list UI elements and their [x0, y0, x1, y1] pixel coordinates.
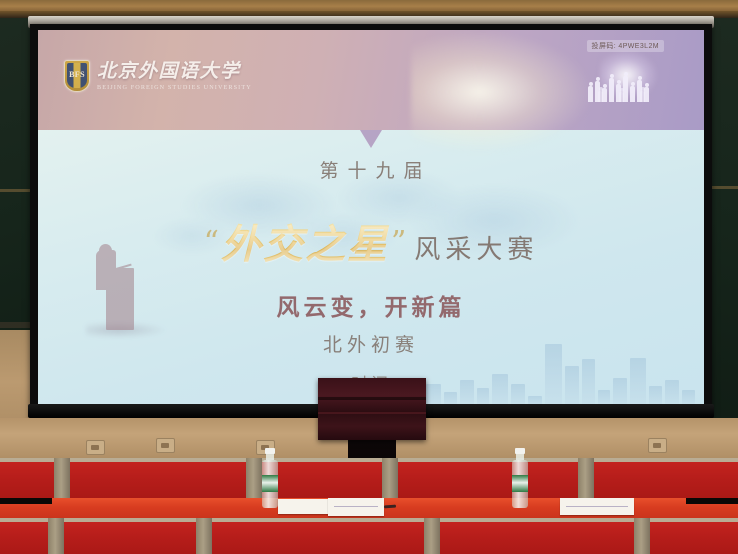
header-notch	[360, 130, 382, 148]
slide-title-suffix: 风采大赛	[414, 235, 538, 265]
lecture-hall-scene: BFS 北京外国语大学 BEIJING FOREIGN STUDIES UNIV…	[0, 0, 738, 554]
screencast-code: 投屏码: 4PWE3L2M	[587, 40, 664, 52]
slide-title-gold: 外交之星	[219, 222, 391, 268]
bfs-crest-icon: BFS	[64, 60, 90, 92]
light-glow	[411, 32, 591, 152]
slide-ordinal: 第十九届	[38, 156, 704, 183]
university-logo: BFS 北京外国语大学 BEIJING FOREIGN STUDIES UNIV…	[64, 60, 252, 92]
wall-power-outlet[interactable]	[86, 440, 105, 455]
slide-main-title: “外交之星”风采大赛	[38, 212, 704, 270]
document-sheet[interactable]	[278, 499, 328, 514]
desk-gap	[0, 498, 52, 504]
slide-stage-name: 北外初赛	[38, 330, 704, 357]
university-name-cn: 北京外国语大学	[97, 62, 252, 81]
desk-row-front	[0, 518, 738, 554]
slide-slogan: 风云变，开新篇	[38, 288, 704, 322]
water-bottle[interactable]	[512, 448, 528, 508]
quote-open: “	[204, 225, 219, 260]
projected-slide: BFS 北京外国语大学 BEIJING FOREIGN STUDIES UNIV…	[38, 30, 704, 406]
water-bottle[interactable]	[262, 448, 278, 508]
wall-power-outlet[interactable]	[648, 438, 667, 453]
document-sheet[interactable]	[328, 498, 384, 516]
slide-header-band: BFS 北京外国语大学 BEIJING FOREIGN STUDIES UNIV…	[38, 30, 704, 130]
lectern-podium	[318, 378, 426, 440]
document-sheet[interactable]	[560, 498, 634, 515]
crowd-people-icon	[586, 60, 656, 102]
desk-gap	[686, 498, 738, 504]
crest-letters: BFS	[65, 70, 89, 79]
quote-close: ”	[391, 225, 406, 260]
wall-power-outlet[interactable]	[156, 438, 175, 453]
university-name-en: BEIJING FOREIGN STUDIES UNIVERSITY	[97, 84, 252, 91]
